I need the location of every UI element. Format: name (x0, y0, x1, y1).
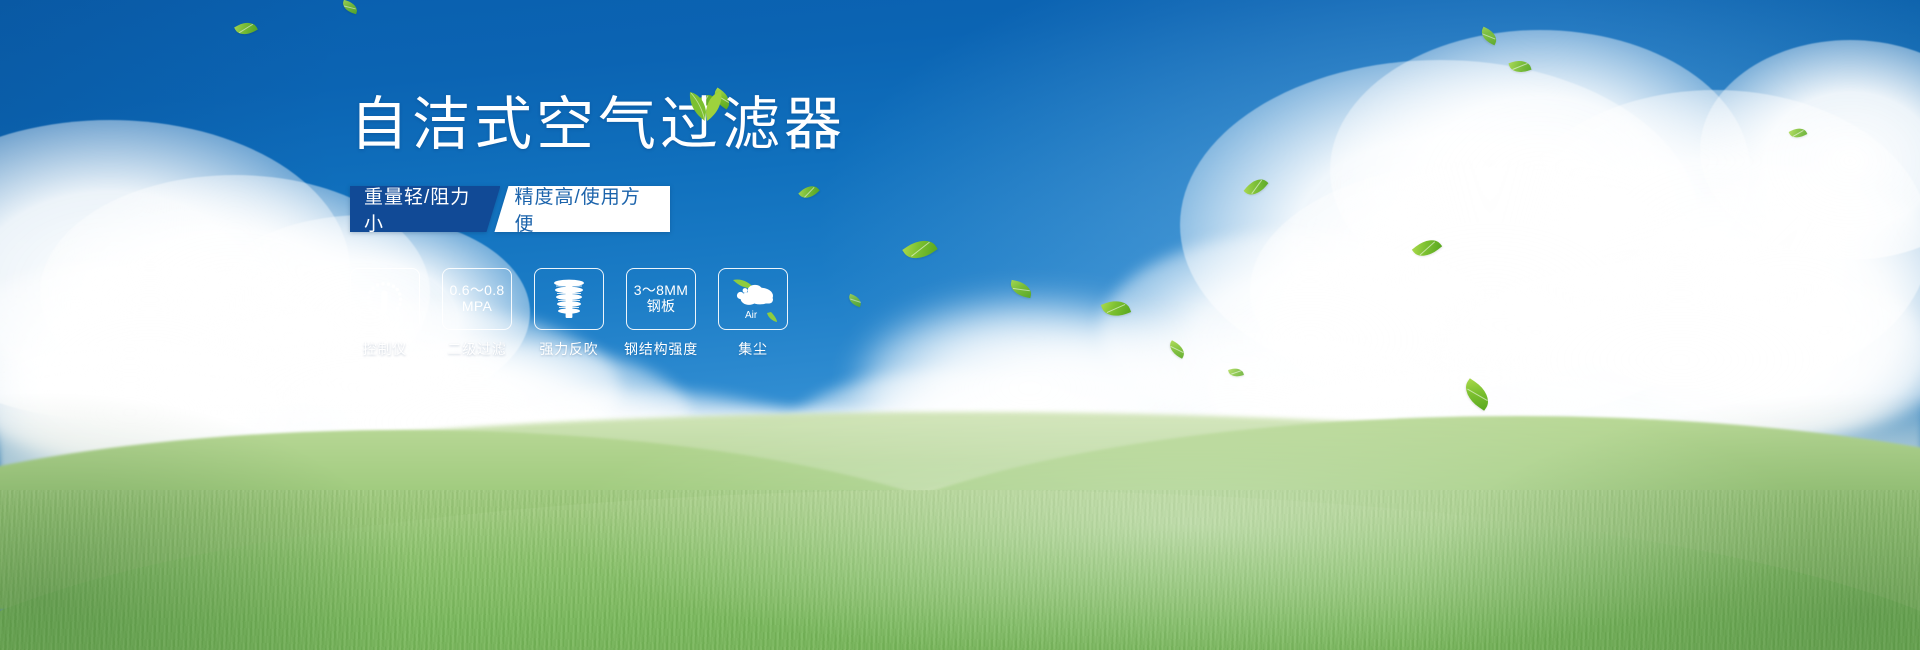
feature-icon-box: NO OFF (350, 268, 420, 330)
filter-cartridge-icon (545, 276, 593, 322)
air-cloud-icon: Air (727, 276, 779, 322)
grass-shadow-right (1400, 390, 1920, 650)
gauge-min-label: NO (362, 296, 371, 303)
feature-label: 钢结构强度 (624, 339, 698, 359)
feature-label: 控制仪 (363, 339, 407, 359)
banner-content: 自洁式空气过滤器 重量轻/阻力小 精度高/使用方便 (350, 96, 970, 359)
feature-item[interactable]: 强力反吹 (534, 268, 604, 359)
pressure-text-icon: 0.6〜0.8 MPA (449, 283, 504, 314)
grass-shadow-left (0, 390, 420, 650)
steel-plate-text-icon: 3〜8MM 钢板 (634, 283, 688, 314)
feature-icon-box: Air (718, 268, 788, 330)
pressure-line-2: MPA (449, 299, 504, 315)
feature-item[interactable]: 3〜8MM 钢板 钢结构强度 (626, 268, 696, 359)
feature-icon-box: 3〜8MM 钢板 (626, 268, 696, 330)
tagline-ribbon: 重量轻/阻力小 精度高/使用方便 (350, 186, 670, 232)
tagline-left: 重量轻/阻力小 (350, 186, 500, 232)
steel-line-1: 3〜8MM (634, 283, 688, 299)
feature-item[interactable]: 0.6〜0.8 MPA 二级过滤 (442, 268, 512, 359)
title-leaf-icon (685, 88, 727, 122)
gauge-max-label: OFF (395, 312, 408, 319)
feature-icon-box (534, 268, 604, 330)
tagline-right: 精度高/使用方便 (494, 186, 670, 232)
feature-label: 强力反吹 (539, 339, 598, 359)
banner-root: 自洁式空气过滤器 重量轻/阻力小 精度高/使用方便 (0, 0, 1920, 650)
feature-list: NO OFF 控制仪 0.6〜0.8 MPA 二级过滤 (350, 268, 970, 359)
air-cloud-label: Air (745, 310, 758, 321)
pressure-line-1: 0.6〜0.8 (449, 283, 504, 299)
feature-item[interactable]: Air 集尘 (718, 268, 788, 359)
feature-label: 集尘 (738, 339, 768, 359)
steel-line-2: 钢板 (634, 299, 688, 315)
page-title: 自洁式空气过滤器 (350, 96, 970, 154)
feature-icon-box: 0.6〜0.8 MPA (442, 268, 512, 330)
gauge-controller-icon: NO OFF (358, 275, 412, 323)
grass-field (0, 350, 1920, 650)
feature-item[interactable]: NO OFF 控制仪 (350, 268, 420, 359)
feature-label: 二级过滤 (447, 339, 506, 359)
